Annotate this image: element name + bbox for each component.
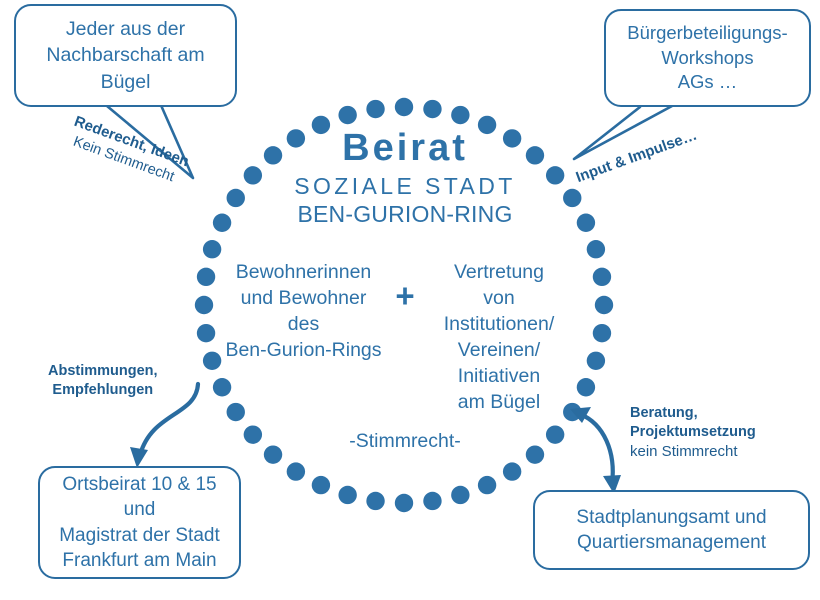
group-residents-line-4: Ben-Gurion-Rings bbox=[225, 339, 381, 361]
ring-dot bbox=[563, 189, 581, 207]
ring-dot bbox=[577, 378, 595, 396]
ring-dot bbox=[244, 425, 262, 443]
group-residents-line-3: des bbox=[288, 313, 319, 335]
callout-workshops-line-2: Workshops bbox=[661, 47, 753, 68]
ring-dot bbox=[312, 476, 330, 494]
group-institutions-line-5: Initiativen bbox=[458, 365, 540, 387]
ring-dot bbox=[526, 445, 544, 463]
ring-dot bbox=[395, 494, 413, 512]
ring-dot bbox=[577, 214, 595, 232]
ring-dot bbox=[197, 324, 215, 342]
relation-label-beratung-line-1: Beratung, bbox=[630, 404, 756, 423]
group-residents: Bewohnerinnen und Bewohner des Ben-Gurio… bbox=[216, 260, 391, 364]
callout-stadtplanung-line-2: Quartiersmanagement bbox=[577, 532, 766, 553]
ring-dot bbox=[595, 296, 613, 314]
group-institutions-line-6: am Bügel bbox=[458, 391, 540, 413]
ring-dot bbox=[338, 486, 356, 504]
callout-workshops[interactable]: Bürgerbeteiligungs- Workshops AGs … bbox=[604, 9, 811, 107]
ring-dot bbox=[587, 352, 605, 370]
callout-ortsbeirat-line-3: Magistrat der Stadt bbox=[59, 525, 220, 546]
ring-dot bbox=[287, 462, 305, 480]
ring-dot bbox=[593, 268, 611, 286]
group-institutions-line-4: Vereinen/ bbox=[458, 339, 540, 361]
ring-dot bbox=[503, 462, 521, 480]
group-residents-line-1: Bewohnerinnen bbox=[236, 261, 372, 283]
ring-dot bbox=[546, 425, 564, 443]
relation-label-beratung-regular: kein Stimmrecht bbox=[630, 442, 756, 462]
ring-dot bbox=[264, 445, 282, 463]
ring-dot bbox=[227, 403, 245, 421]
ring-dot bbox=[213, 378, 231, 396]
diagram-canvas: Jeder aus der Nachbarschaft am Bügel Bür… bbox=[0, 0, 820, 600]
page-title: Beirat bbox=[260, 127, 550, 170]
ring-dot bbox=[203, 240, 221, 258]
ring-dot bbox=[227, 189, 245, 207]
group-institutions-line-3: Institutionen/ bbox=[444, 313, 555, 335]
ring-dot bbox=[587, 240, 605, 258]
ring-dot bbox=[197, 268, 215, 286]
page-subtitle-secondary: BEN-GURION-RING bbox=[260, 201, 550, 228]
callout-workshops-line-3: AGs … bbox=[678, 71, 738, 92]
callout-neighbourhood-line-2: Nachbarschaft am bbox=[46, 44, 204, 66]
voting-right-note: -Stimmrecht- bbox=[310, 430, 500, 453]
group-residents-line-2: und Bewohner bbox=[241, 287, 367, 309]
ring-dot bbox=[195, 296, 213, 314]
relation-label-abstimmungen-line-2: Empfehlungen bbox=[52, 382, 153, 398]
callout-neighbourhood-line-1: Jeder aus der bbox=[66, 18, 185, 40]
callout-ortsbeirat-line-2: und bbox=[124, 499, 156, 520]
callout-stadtplanung[interactable]: Stadtplanungsamt und Quartiersmanagement bbox=[533, 490, 810, 570]
relation-label-beratung-line-2: Projektumsetzung bbox=[630, 423, 756, 442]
callout-ortsbeirat[interactable]: Ortsbeirat 10 & 15 und Magistrat der Sta… bbox=[38, 466, 241, 579]
ring-dot bbox=[593, 324, 611, 342]
ring-dot bbox=[213, 214, 231, 232]
ring-dot bbox=[395, 98, 413, 116]
group-institutions-line-1: Vertretung bbox=[454, 261, 544, 283]
arrow-beratung bbox=[570, 407, 621, 494]
relation-label-abstimmungen: Abstimmungen, Empfehlungen bbox=[48, 362, 158, 400]
page-subtitle: SOZIALE STADT bbox=[260, 173, 550, 200]
callout-ortsbeirat-line-1: Ortsbeirat 10 & 15 bbox=[62, 474, 216, 495]
callout-stadtplanung-line-1: Stadtplanungsamt und bbox=[576, 507, 766, 528]
ring-dot bbox=[423, 492, 441, 510]
callout-workshops-line-1: Bürgerbeteiligungs- bbox=[627, 22, 787, 43]
callout-neighbourhood-line-3: Bügel bbox=[101, 71, 151, 93]
plus-icon: + bbox=[388, 277, 422, 315]
relation-label-abstimmungen-line-1: Abstimmungen, bbox=[48, 363, 158, 379]
ring-dot bbox=[451, 106, 469, 124]
ring-dot bbox=[423, 100, 441, 118]
ring-dot bbox=[451, 486, 469, 504]
ring-dot bbox=[478, 476, 496, 494]
ring-dot bbox=[366, 492, 384, 510]
group-institutions-line-2: von bbox=[483, 287, 514, 309]
callout-neighbourhood[interactable]: Jeder aus der Nachbarschaft am Bügel bbox=[14, 4, 237, 107]
callout-ortsbeirat-line-4: Frankfurt am Main bbox=[62, 550, 216, 571]
ring-dot bbox=[366, 100, 384, 118]
group-institutions: Vertretung von Institutionen/ Vereinen/ … bbox=[424, 260, 574, 416]
relation-label-beratung: Beratung, Projektumsetzung kein Stimmrec… bbox=[630, 404, 756, 462]
ring-dot bbox=[338, 106, 356, 124]
